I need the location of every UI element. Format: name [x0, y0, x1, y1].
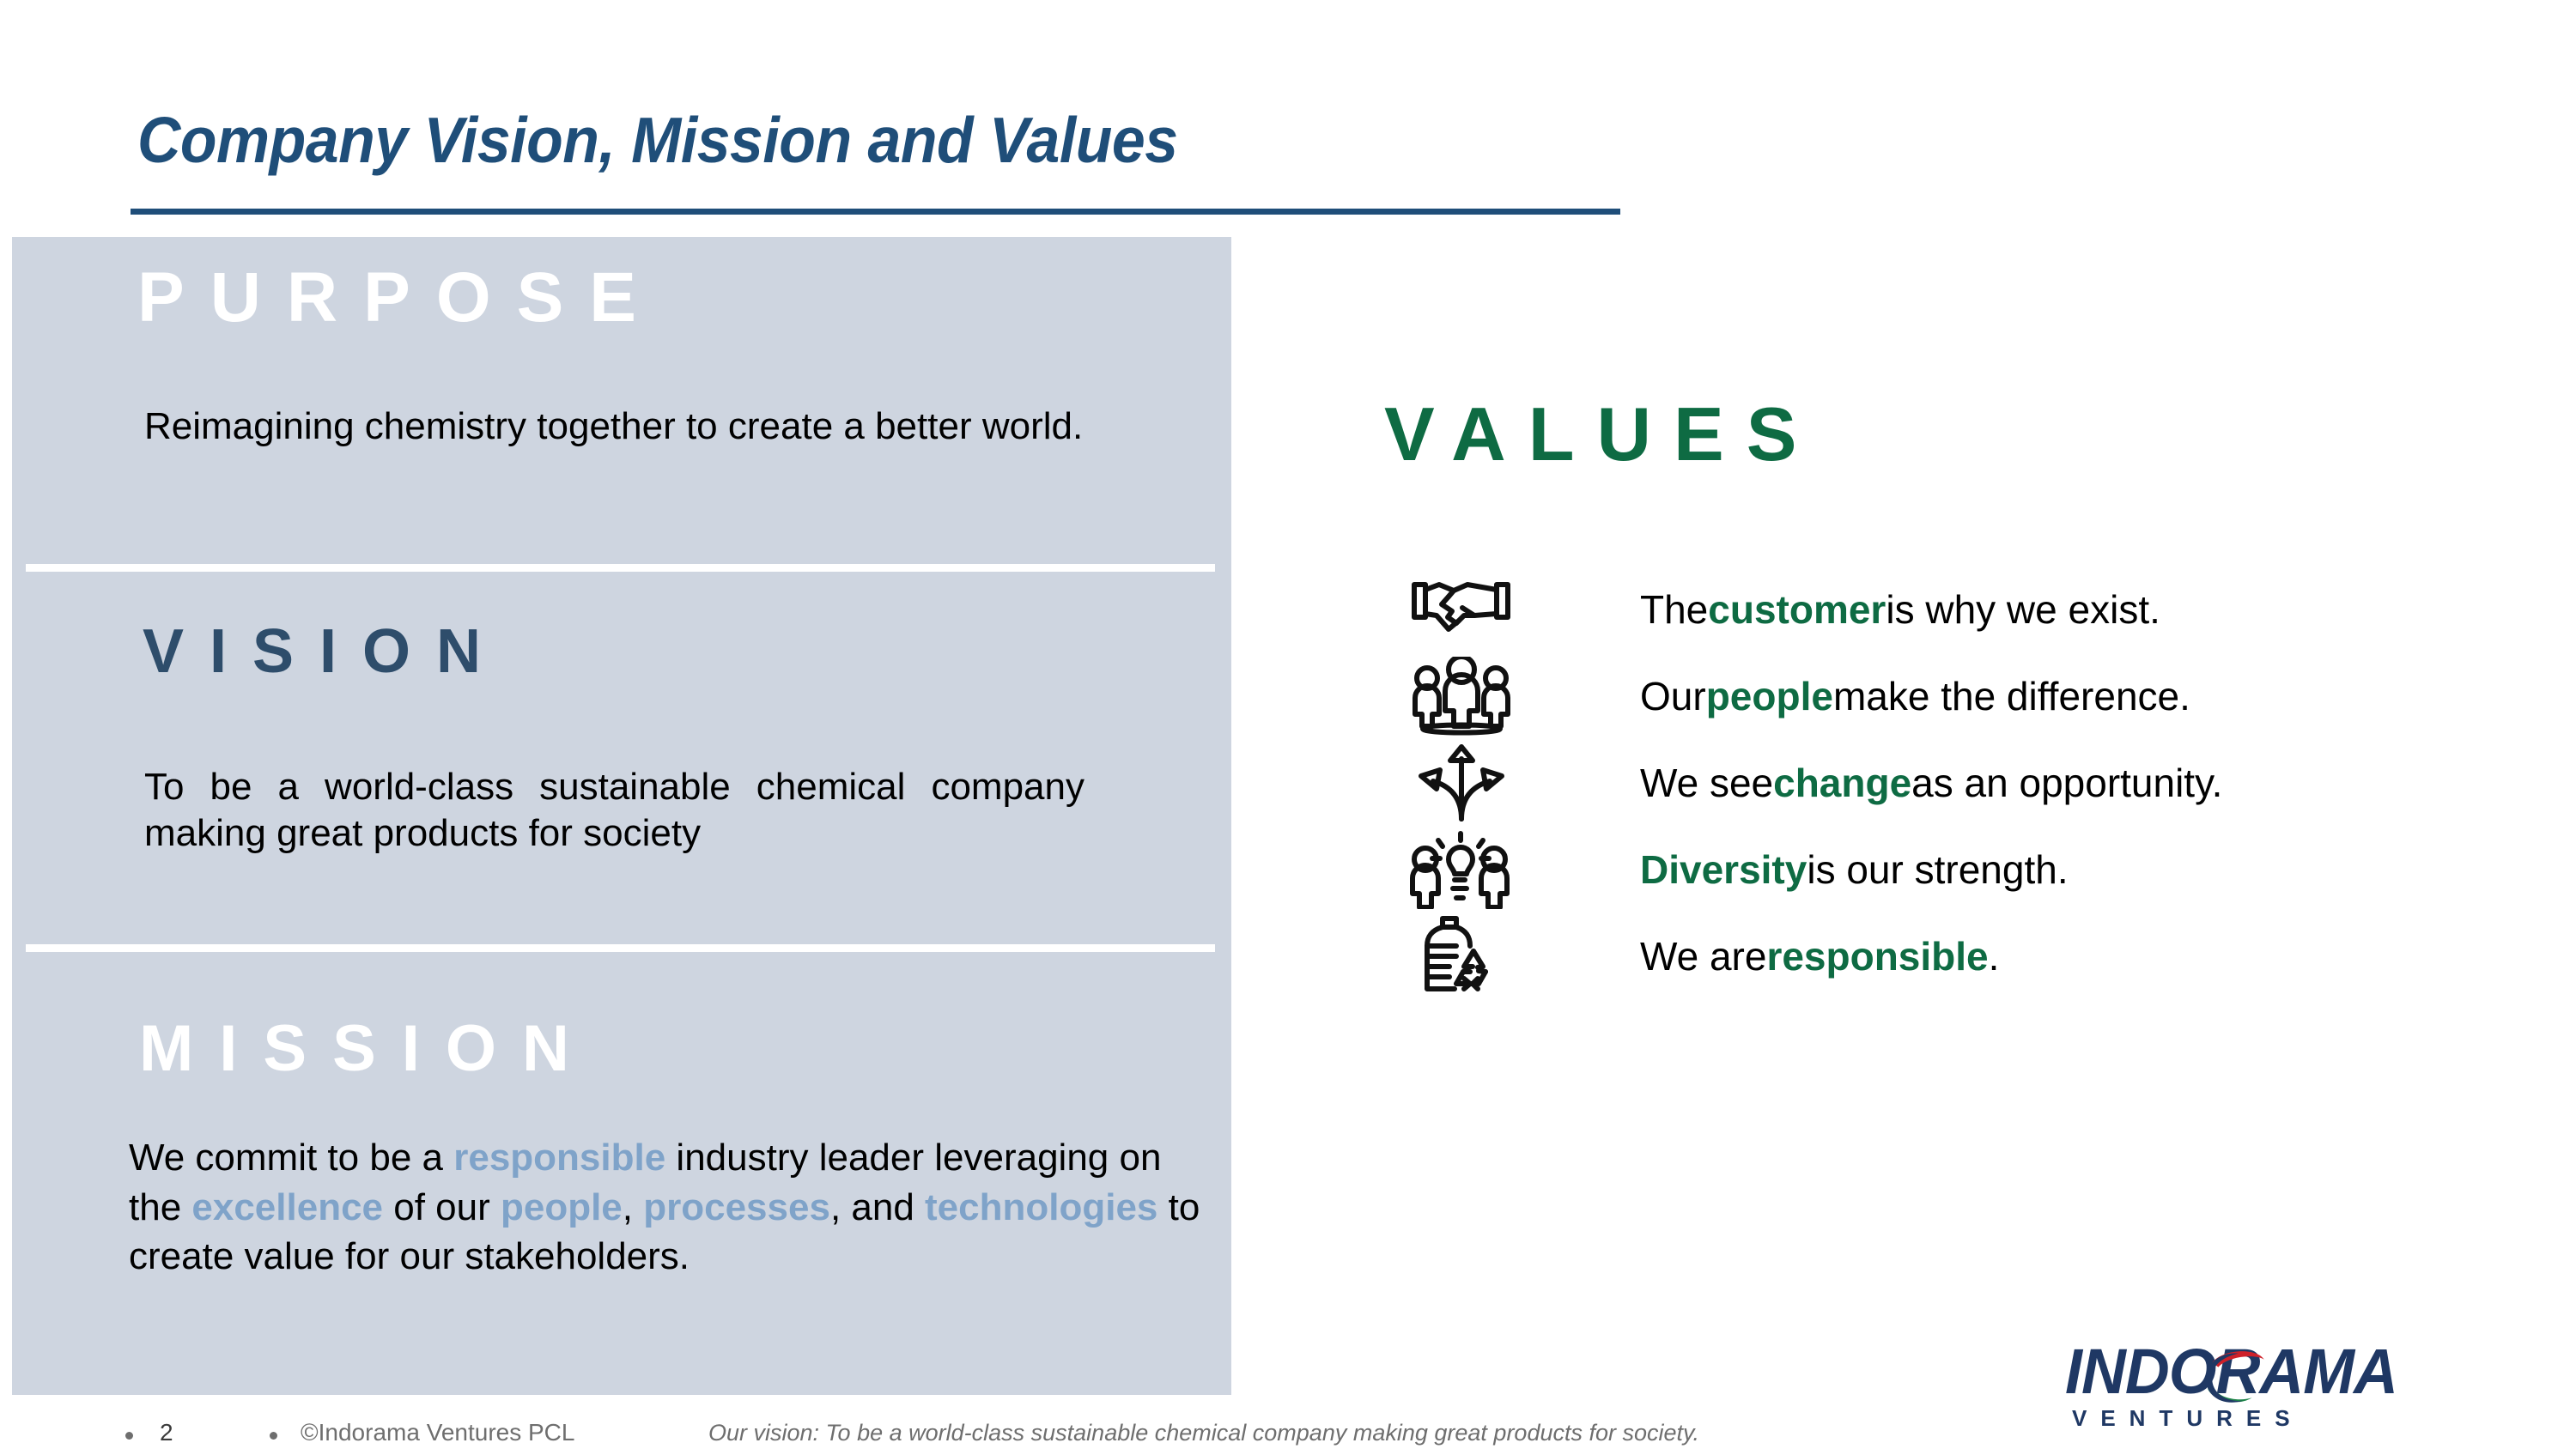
value-text-before: We are — [1640, 933, 1766, 979]
branching-arrows-icon — [1393, 740, 1530, 826]
value-statement: The customer is why we exist. — [1640, 567, 2160, 652]
value-row: We see change as an opportunity. — [1374, 740, 2516, 826]
panel-divider-1 — [26, 564, 1215, 572]
purpose-body-text: Reimagining chemistry together to create… — [144, 403, 1089, 450]
mission-highlight-word: processes — [643, 1186, 830, 1228]
page-title: Company Vision, Mission and Values — [137, 103, 1178, 177]
mission-heading: MISSION — [139, 1011, 595, 1086]
mission-highlight-word: technologies — [925, 1186, 1157, 1228]
handshake-icon — [1393, 567, 1530, 652]
two-people-lightbulb-icon — [1393, 827, 1530, 912]
value-text-after: make the difference. — [1833, 673, 2190, 719]
value-row: The customer is why we exist. — [1374, 567, 2516, 652]
vision-heading: VISION — [143, 616, 507, 687]
value-keyword: responsible — [1766, 933, 1988, 979]
value-row: Diversity is our strength. — [1374, 827, 2516, 912]
group-of-people-icon — [1393, 653, 1530, 739]
value-keyword: change — [1773, 760, 1911, 806]
mission-highlight-word: excellence — [191, 1186, 383, 1228]
mission-text-segment: , — [623, 1186, 643, 1228]
page-number: 2 — [160, 1419, 173, 1446]
value-statement: Diversity is our strength. — [1640, 827, 2069, 912]
copyright-notice: ©Indorama Ventures PCL — [301, 1419, 574, 1446]
value-statement: Our people make the difference. — [1640, 653, 2190, 739]
values-list: The customer is why we exist.Our people … — [1374, 567, 2516, 1000]
value-text-after: is why we exist. — [1886, 586, 2160, 633]
value-row: We are responsible. — [1374, 913, 2516, 999]
value-keyword: Diversity — [1640, 846, 1807, 893]
bottle-recycle-icon — [1393, 913, 1530, 999]
mission-highlight-word: people — [501, 1186, 623, 1228]
value-keyword: people — [1706, 673, 1833, 719]
value-text-before: Our — [1640, 673, 1706, 719]
value-text-after: is our strength. — [1807, 846, 2068, 893]
value-row: Our people make the difference. — [1374, 653, 2516, 739]
panel-divider-2 — [26, 944, 1215, 952]
footer-bullet-icon — [125, 1432, 133, 1440]
footer-tagline: Our vision: To be a world-class sustaina… — [708, 1420, 1699, 1446]
mission-text-segment: , and — [830, 1186, 925, 1228]
title-underline-rule — [131, 209, 1620, 215]
value-keyword: customer — [1708, 586, 1886, 633]
value-text-before: The — [1640, 586, 1708, 633]
footer-bullet-icon — [270, 1432, 277, 1440]
logo-swoosh-icon — [2196, 1344, 2275, 1413]
vision-body-text: To be a world-class sustainable chemical… — [144, 764, 1084, 856]
value-text-before: We see — [1640, 760, 1773, 806]
mission-text-segment: We commit to be a — [129, 1137, 453, 1179]
value-statement: We see change as an opportunity. — [1640, 740, 2222, 826]
logo-subwordmark: VENTURES — [2072, 1405, 2304, 1432]
value-statement: We are responsible. — [1640, 913, 1999, 999]
mission-text-segment: of our — [383, 1186, 501, 1228]
mission-highlight-word: responsible — [453, 1137, 665, 1179]
value-text-after: . — [1989, 933, 2000, 979]
mission-body-text: We commit to be a responsible industry l… — [129, 1133, 1202, 1282]
purpose-heading: PURPOSE — [137, 258, 662, 338]
indorama-ventures-logo: INDORAMA VENTURES — [2065, 1335, 2469, 1434]
value-text-after: as an opportunity. — [1911, 760, 2222, 806]
values-heading: VALUES — [1384, 391, 1819, 478]
